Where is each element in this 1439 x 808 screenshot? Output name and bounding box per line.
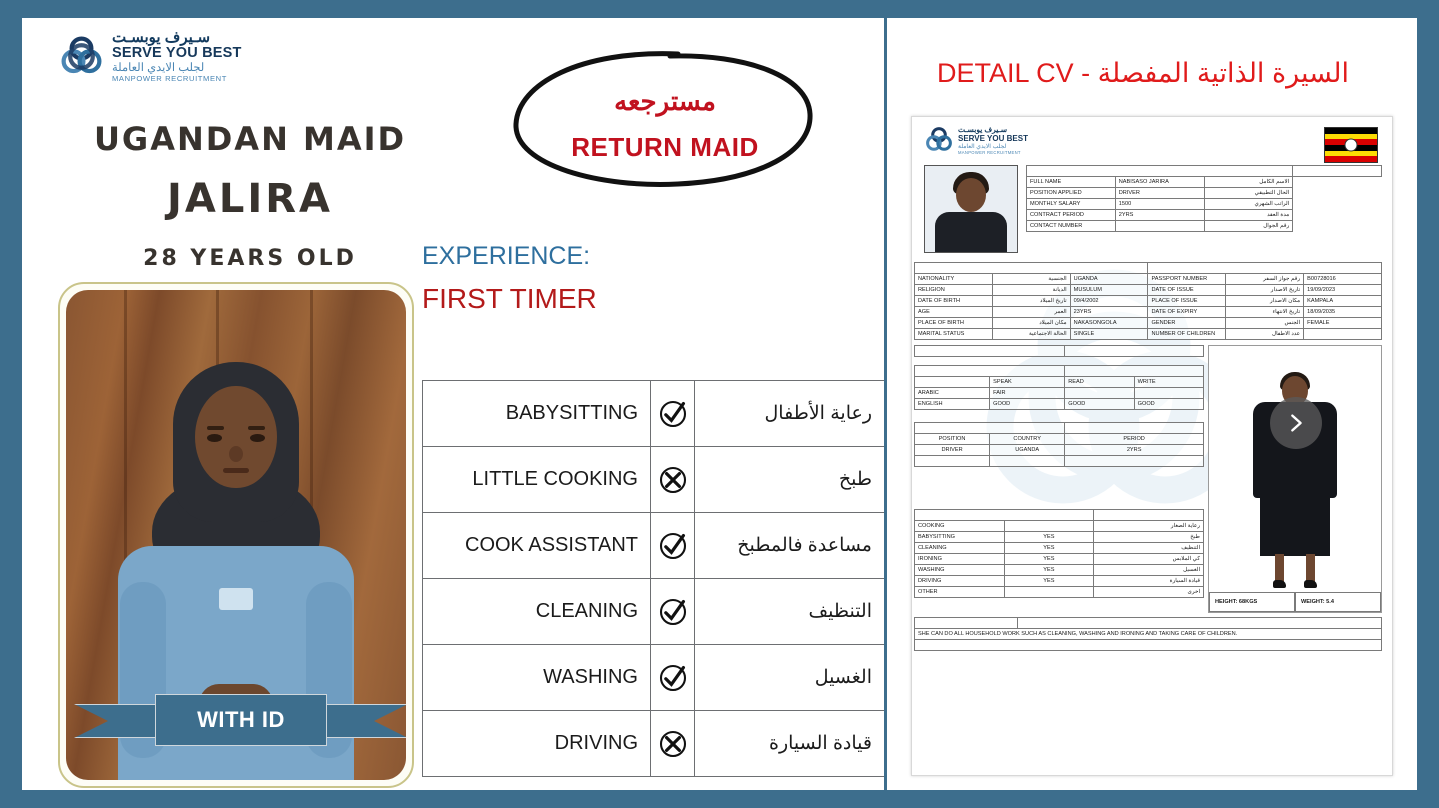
work-period-empty	[1065, 456, 1204, 467]
cv-row: AGEالعمر23YRSDATE OF EXPIRYتاريخ الانتها…	[915, 307, 1382, 318]
detail-arabic-2: مكان الاصدار	[1226, 296, 1304, 307]
skill-arabic: قيادة السيارة	[695, 711, 885, 777]
language-name: ARABIC	[915, 388, 990, 399]
detail-arabic-2: تاريخ الاصدار	[1226, 285, 1304, 296]
cv-row: EDUCATION LEVEL	[915, 346, 1204, 357]
cv-row: POSITION APPLIEDDRIVERالحال التطبيقي	[1027, 188, 1382, 199]
detail-label: RELIGION	[915, 285, 993, 296]
employment-row-value	[1115, 221, 1204, 232]
remarks-header: REMARKS	[915, 618, 1018, 629]
work-country: UGANDA	[990, 445, 1065, 456]
detail-arabic: تاريخ الميلاد	[992, 296, 1070, 307]
detail-label: AGE	[915, 307, 993, 318]
applicant-fullbody-photo: HEIGHT: 68KGS WEIGHT: 5.4	[1208, 345, 1382, 613]
skill-english: DRIVING	[423, 711, 651, 777]
uganda-flag-icon	[1324, 127, 1378, 163]
maid-age: 28 YEARS OLD	[62, 246, 438, 271]
cv-row: IRONINGYESكي الملابس	[915, 554, 1204, 565]
ref-label: REF:	[1293, 166, 1382, 177]
detail-arabic-2: تاريخ الانتهاء	[1226, 307, 1304, 318]
detail-label-2: NUMBER OF CHILDREN	[1148, 329, 1226, 340]
next-slide-button[interactable]	[1270, 397, 1322, 449]
work-column-header: COUNTRY	[990, 434, 1065, 445]
cv-skill-name: WASHING	[915, 565, 1005, 576]
serve-you-best-logo-icon	[58, 33, 105, 80]
language-speak: FAIR	[990, 388, 1065, 399]
logo-english-name: SERVE YOU BEST	[112, 46, 242, 61]
detail-value: 23YRS	[1070, 307, 1148, 318]
cv-skills-table: SKILLSالمهاراتCOOKINGرعاية الصغارBABYSIT…	[914, 509, 1204, 598]
employment-row-label: FULL NAME	[1027, 177, 1116, 188]
detail-arabic-2: رقم جواز السفر	[1226, 274, 1304, 285]
language-column-header: WRITE	[1134, 377, 1203, 388]
employment-row-value: 2YRS	[1115, 210, 1204, 221]
skill-mark-cell	[651, 381, 695, 447]
left-panel: سـيرف يوبسـت SERVE YOU BEST لجلب الايدي …	[22, 18, 884, 790]
other-details-header: OTHER DETAILS OF APPLICANT	[915, 263, 1148, 274]
detail-label: NATIONALITY	[915, 274, 993, 285]
page-title: UGANDAN MAID	[62, 120, 438, 158]
chevron-right-icon	[1285, 412, 1307, 434]
detail-value: MUSULUM	[1070, 285, 1148, 296]
cv-row: CONTRACT PERIOD2YRSمدة العقد	[1027, 210, 1382, 221]
detail-value-2: KAMPALA	[1304, 296, 1382, 307]
cv-row: MONTHLY SALARY1500الراتب الشهري	[1027, 199, 1382, 210]
language-literacy-table: LANGUAGE LITERACYSPEAKREADWRITEARABICFAI…	[914, 365, 1204, 410]
detail-arabic-2: عدد الاطفال	[1226, 329, 1304, 340]
work-position-empty	[915, 456, 990, 467]
language-name: ENGLISH	[915, 399, 990, 410]
skill-english: CLEANING	[423, 579, 651, 645]
education-header: EDUCATION LEVEL	[915, 346, 1065, 357]
check-icon	[657, 530, 689, 562]
cv-skill-name: IRONING	[915, 554, 1005, 565]
detail-arabic-2: الجنس	[1226, 318, 1304, 329]
cv-skill-arabic: الغسيل	[1094, 565, 1204, 576]
employment-row-value: DRIVER	[1115, 188, 1204, 199]
work-experience-header-blank	[1065, 423, 1204, 434]
language-column-header	[915, 377, 990, 388]
work-period: 2YRS	[1065, 445, 1204, 456]
cv-skill-arabic: رعاية الصغار	[1094, 521, 1204, 532]
employment-row-label: CONTRACT PERIOD	[1027, 210, 1116, 221]
skill-mark-cell	[651, 711, 695, 777]
cv-row: CLEANINGYESالتنظيف	[915, 543, 1204, 554]
language-speak: GOOD	[990, 399, 1065, 410]
poster-canvas: سـيرف يوبسـت SERVE YOU BEST لجلب الايدي …	[22, 18, 1417, 790]
cv-skill-arabic: طبخ	[1094, 532, 1204, 543]
cv-row: FULL NAMENABISASO JARIRAالاسم الكامل	[1027, 177, 1382, 188]
cv-logo-icon	[924, 125, 954, 155]
work-country-empty	[990, 456, 1065, 467]
cv-skill-arabic: كي الملابس	[1094, 554, 1204, 565]
other-details-table: OTHER DETAILS OF APPLICANTNATIONALITYالج…	[914, 262, 1382, 340]
maid-photo: WITH ID	[66, 290, 406, 780]
language-column-header: READ	[1065, 377, 1134, 388]
other-details-body: OTHER DETAILS OF APPLICANTNATIONALITYالج…	[915, 263, 1382, 340]
education-value	[1065, 346, 1204, 357]
education-body: EDUCATION LEVEL	[915, 346, 1204, 357]
employment-row-value: 1500	[1115, 199, 1204, 210]
employment-row-value: NABISASO JARIRA	[1115, 177, 1204, 188]
cv-row	[915, 456, 1204, 467]
company-logo: سـيرف يوبسـت SERVE YOU BEST لجلب الايدي …	[58, 30, 242, 83]
detail-value-2	[1304, 329, 1382, 340]
work-column-header: PERIOD	[1065, 434, 1204, 445]
cv-skill-name: COOKING	[915, 521, 1005, 532]
detail-label-2: DATE OF ISSUE	[1148, 285, 1226, 296]
hand-drawn-ellipse-icon	[510, 48, 820, 190]
cv-row: POSITIONCOUNTRYPERIOD	[915, 434, 1204, 445]
cross-icon	[657, 464, 689, 496]
cv-skills-body: SKILLSالمهاراتCOOKINGرعاية الصغارBABYSIT…	[915, 510, 1204, 598]
height-value: HEIGHT: 68KGS	[1209, 592, 1295, 612]
cv-skill-value	[1004, 521, 1094, 532]
maid-name: JALIRA	[62, 176, 438, 222]
cv-skill-value	[1004, 587, 1094, 598]
detail-value: SINGLE	[1070, 329, 1148, 340]
skill-arabic: الغسيل	[695, 645, 885, 711]
skills-table-body: BABYSITTINGرعاية الأطفالLITTLE COOKINGطب…	[423, 381, 885, 777]
work-experience-header: WORK EXPERIENCE	[915, 423, 1065, 434]
detail-label: DATE OF BIRTH	[915, 296, 993, 307]
section-header-row: OTHER DETAILS OF APPLICANT	[915, 263, 1382, 274]
detail-label: PLACE OF BIRTH	[915, 318, 993, 329]
employment-row-arabic: مدة العقد	[1204, 210, 1293, 221]
cv-skill-value: YES	[1004, 576, 1094, 587]
detail-label: MARITAL STATUS	[915, 329, 993, 340]
skill-arabic: طبخ	[695, 447, 885, 513]
detail-arabic: مكان الميلاد	[992, 318, 1070, 329]
section-header-row: LANGUAGE LITERACY	[915, 366, 1204, 377]
skill-english: BABYSITTING	[423, 381, 651, 447]
detail-label-2: GENDER	[1148, 318, 1226, 329]
employment-row-arabic: الاسم الكامل	[1204, 177, 1293, 188]
remarks-text: SHE CAN DO ALL HOUSEHOLD WORK SUCH AS CL…	[915, 629, 1382, 640]
weight-value: WEIGHT: 5.4	[1295, 592, 1381, 612]
cv-skills-header: SKILLS	[915, 510, 1094, 521]
detail-arabic: الديانة	[992, 285, 1070, 296]
cv-row: BABYSITTINGYESطبخ	[915, 532, 1204, 543]
cv-logo-english-name: SERVE YOU BEST	[958, 134, 1028, 143]
cv-logo-arabic-name: سـيرف يوبسـت	[958, 125, 1028, 134]
skill-arabic: رعاية الأطفال	[695, 381, 885, 447]
work-column-header: POSITION	[915, 434, 990, 445]
logo-english-tagline: MANPOWER RECRUITMENT	[112, 75, 227, 83]
work-experience-table: WORK EXPERIENCEPOSITIONCOUNTRYPERIODDRIV…	[914, 422, 1204, 467]
language-body: LANGUAGE LITERACYSPEAKREADWRITEARABICFAI…	[915, 366, 1204, 410]
cv-skill-name: DRIVING	[915, 576, 1005, 587]
cv-title: السيرة الذاتية المفصلة - DETAIL CV	[887, 58, 1399, 89]
cv-skill-arabic: قيادة السيارة	[1094, 576, 1204, 587]
cv-row: ENGLISHGOODGOODGOOD	[915, 399, 1204, 410]
skills-table: BABYSITTINGرعاية الأطفالLITTLE COOKINGطب…	[422, 380, 885, 777]
measurements-row: HEIGHT: 68KGS WEIGHT: 5.4	[1209, 592, 1381, 612]
check-icon	[657, 398, 689, 430]
skill-row: LITTLE COOKINGطبخ	[423, 447, 885, 513]
cv-row: DRIVERUGANDA2YRS	[915, 445, 1204, 456]
language-column-header: SPEAK	[990, 377, 1065, 388]
cv-row: DATE OF BIRTHتاريخ الميلاد09/4/2002PLACE…	[915, 296, 1382, 307]
cv-row: CONTACT NUMBERرقم الجوال	[1027, 221, 1382, 232]
logo-arabic-tagline: لجلب الايدي العاملة	[112, 63, 204, 75]
cv-skill-value: YES	[1004, 543, 1094, 554]
skill-english: COOK ASSISTANT	[423, 513, 651, 579]
cv-skill-name: OTHER	[915, 587, 1005, 598]
skill-mark-cell	[651, 447, 695, 513]
cv-row: ARABICFAIR	[915, 388, 1204, 399]
skill-row: CLEANINGالتنظيف	[423, 579, 885, 645]
skill-row: COOK ASSISTANTمساعدة فالمطبخ	[423, 513, 885, 579]
detail-value-2: 19/09/2023	[1304, 285, 1382, 296]
employment-row-arabic: الحال التطبيقي	[1204, 188, 1293, 199]
employment-header: EMPLOYMENT DETAILS	[1027, 166, 1293, 177]
remarks-empty	[915, 640, 1382, 651]
with-id-label: WITH ID	[155, 694, 327, 746]
skill-row: DRIVINGقيادة السيارة	[423, 711, 885, 777]
remarks-body: REMARKSSHE CAN DO ALL HOUSEHOLD WORK SUC…	[915, 618, 1382, 651]
detail-value-2: 18/09/2035	[1304, 307, 1382, 318]
detail-label-2: DATE OF EXPIRY	[1148, 307, 1226, 318]
cv-row: WASHINGYESالغسيل	[915, 565, 1204, 576]
detail-value-2: B00728016	[1304, 274, 1382, 285]
cv-row: RELIGIONالديانةMUSULUMDATE OF ISSUEتاريخ…	[915, 285, 1382, 296]
detail-value: NAKASONGOLA	[1070, 318, 1148, 329]
cv-row: NATIONALITYالجنسيةUGANDAPASSPORT NUMBERر…	[915, 274, 1382, 285]
skill-english: LITTLE COOKING	[423, 447, 651, 513]
return-maid-annotation: مسترجعه RETURN MAID	[510, 48, 820, 190]
cv-skill-arabic: التنظيف	[1094, 543, 1204, 554]
experience-label: EXPERIENCE:	[422, 242, 590, 271]
skill-mark-cell	[651, 579, 695, 645]
skill-row: BABYSITTINGرعاية الأطفال	[423, 381, 885, 447]
cv-skill-value: YES	[1004, 565, 1094, 576]
right-panel: السيرة الذاتية المفصلة - DETAIL CV	[887, 18, 1417, 790]
cv-row: PLACE OF BIRTHمكان الميلادNAKASONGOLAGEN…	[915, 318, 1382, 329]
detail-arabic: الحالة الاجتماعية	[992, 329, 1070, 340]
language-read: GOOD	[1065, 399, 1134, 410]
other-details-header-blank	[1148, 263, 1382, 274]
poster-root: سـيرف يوبسـت SERVE YOU BEST لجلب الايدي …	[0, 0, 1439, 808]
detail-value: 09/4/2002	[1070, 296, 1148, 307]
applicant-headshot	[924, 165, 1018, 253]
cv-row: COOKINGرعاية الصغار	[915, 521, 1204, 532]
cv-skill-arabic: اخرى	[1094, 587, 1204, 598]
skill-arabic: التنظيف	[695, 579, 885, 645]
skill-english: WASHING	[423, 645, 651, 711]
work-position: DRIVER	[915, 445, 990, 456]
cv-skill-name: CLEANING	[915, 543, 1005, 554]
detail-value-2: FEMALE	[1304, 318, 1382, 329]
cv-logo-arabic-tagline: لجلب الايدي العاملة	[958, 143, 1028, 150]
section-header-row: EMPLOYMENT DETAILSREF:	[1027, 166, 1382, 177]
employment-row-label: MONTHLY SALARY	[1027, 199, 1116, 210]
language-header: LANGUAGE LITERACY	[915, 366, 1065, 377]
cv-logo: سـيرف يوبسـت SERVE YOU BEST لجلب الايدي …	[924, 125, 1028, 155]
detail-label-2: PASSPORT NUMBER	[1148, 274, 1226, 285]
cv-row: DRIVINGYESقيادة السيارة	[915, 576, 1204, 587]
employment-row-arabic: الراتب الشهري	[1204, 199, 1293, 210]
employment-details-table: EMPLOYMENT DETAILSREF:FULL NAMENABISASO …	[1026, 165, 1382, 232]
cv-skills-header-arabic: المهارات	[1094, 510, 1204, 521]
logo-arabic-name: سـيرف يوبسـت	[112, 30, 210, 45]
employment-row-label: CONTACT NUMBER	[1027, 221, 1116, 232]
skill-arabic: مساعدة فالمطبخ	[695, 513, 885, 579]
cross-icon	[657, 728, 689, 760]
with-id-ribbon: WITH ID	[74, 694, 406, 746]
cv-document: سـيرف يوبسـت SERVE YOU BEST لجلب الايدي …	[911, 116, 1393, 776]
maid-photo-card: WITH ID	[58, 282, 414, 788]
employment-row-arabic: رقم الجوال	[1204, 221, 1293, 232]
employment-details-body: EMPLOYMENT DETAILSREF:FULL NAMENABISASO …	[1027, 166, 1382, 232]
language-header-blank	[1065, 366, 1204, 377]
cv-skill-value: YES	[1004, 532, 1094, 543]
detail-arabic: العمر	[992, 307, 1070, 318]
remarks-header-blank	[1017, 618, 1381, 629]
section-header-row: WORK EXPERIENCE	[915, 423, 1204, 434]
check-icon	[657, 662, 689, 694]
annotation-arabic: مسترجعه	[510, 86, 820, 117]
skill-row: WASHINGالغسيل	[423, 645, 885, 711]
cv-row: SPEAKREADWRITE	[915, 377, 1204, 388]
annotation-english: RETURN MAID	[510, 132, 820, 163]
work-experience-body: WORK EXPERIENCEPOSITIONCOUNTRYPERIODDRIV…	[915, 423, 1204, 467]
cv-logo-english-tagline: MANPOWER RECRUITMENT	[958, 150, 1028, 155]
detail-arabic: الجنسية	[992, 274, 1070, 285]
language-write: GOOD	[1134, 399, 1203, 410]
education-level-table: EDUCATION LEVEL	[914, 345, 1204, 357]
employment-row-label: POSITION APPLIED	[1027, 188, 1116, 199]
cv-skill-name: BABYSITTING	[915, 532, 1005, 543]
remarks-empty-row	[915, 640, 1382, 651]
detail-value: UGANDA	[1070, 274, 1148, 285]
section-header-row: SKILLSالمهارات	[915, 510, 1204, 521]
remarks-table: REMARKSSHE CAN DO ALL HOUSEHOLD WORK SUC…	[914, 617, 1382, 651]
detail-label-2: PLACE OF ISSUE	[1148, 296, 1226, 307]
cv-skill-value: YES	[1004, 554, 1094, 565]
skill-mark-cell	[651, 513, 695, 579]
section-header-row: REMARKS	[915, 618, 1382, 629]
experience-value: FIRST TIMER	[422, 283, 597, 315]
cv-row: MARITAL STATUSالحالة الاجتماعيةSINGLENUM…	[915, 329, 1382, 340]
remarks-text-row: SHE CAN DO ALL HOUSEHOLD WORK SUCH AS CL…	[915, 629, 1382, 640]
language-read	[1065, 388, 1134, 399]
skill-mark-cell	[651, 645, 695, 711]
cv-row: OTHERاخرى	[915, 587, 1204, 598]
check-icon	[657, 596, 689, 628]
language-write	[1134, 388, 1203, 399]
